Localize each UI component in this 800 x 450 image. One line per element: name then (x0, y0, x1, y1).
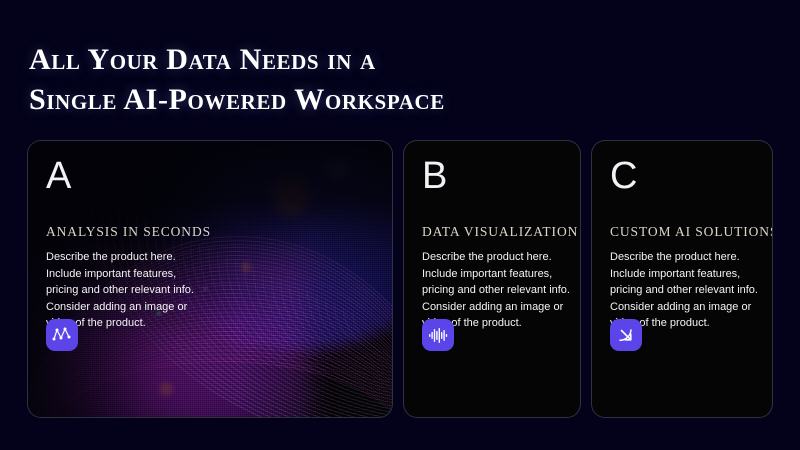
waveform-bars-icon-tile[interactable] (422, 319, 454, 351)
arrow-down-right-icon-tile[interactable] (610, 319, 642, 351)
feature-card-analysis-in-seconds[interactable]: A ANALYSIS IN SECONDS Describe the produ… (27, 140, 393, 418)
card-heading: DATA VISUALIZATION (422, 224, 578, 240)
card-heading: ANALYSIS IN SECONDS (46, 224, 211, 240)
line-chart-icon-tile[interactable] (46, 319, 78, 351)
page-title: All Your Data Needs in a Single AI-Power… (29, 40, 749, 120)
card-letter-badge: B (422, 155, 562, 197)
arrow-down-right-icon (616, 325, 636, 345)
feature-card-data-visualization[interactable]: B DATA VISUALIZATION Describe the produc… (403, 140, 581, 418)
page-title-line-1: All Your Data Needs in a (29, 40, 749, 80)
feature-card-grid: A ANALYSIS IN SECONDS Describe the produ… (0, 140, 800, 420)
card-letter-badge: C (610, 155, 754, 197)
line-chart-icon (52, 326, 72, 344)
page-title-line-2: Single AI-Powered Workspace (29, 80, 749, 120)
card-heading: CUSTOM AI SOLUTIONS (610, 224, 773, 240)
card-letter-badge: A (46, 155, 374, 197)
waveform-bars-icon (428, 326, 448, 344)
feature-card-custom-ai-solutions[interactable]: C CUSTOM AI SOLUTIONS Describe the produ… (591, 140, 773, 418)
